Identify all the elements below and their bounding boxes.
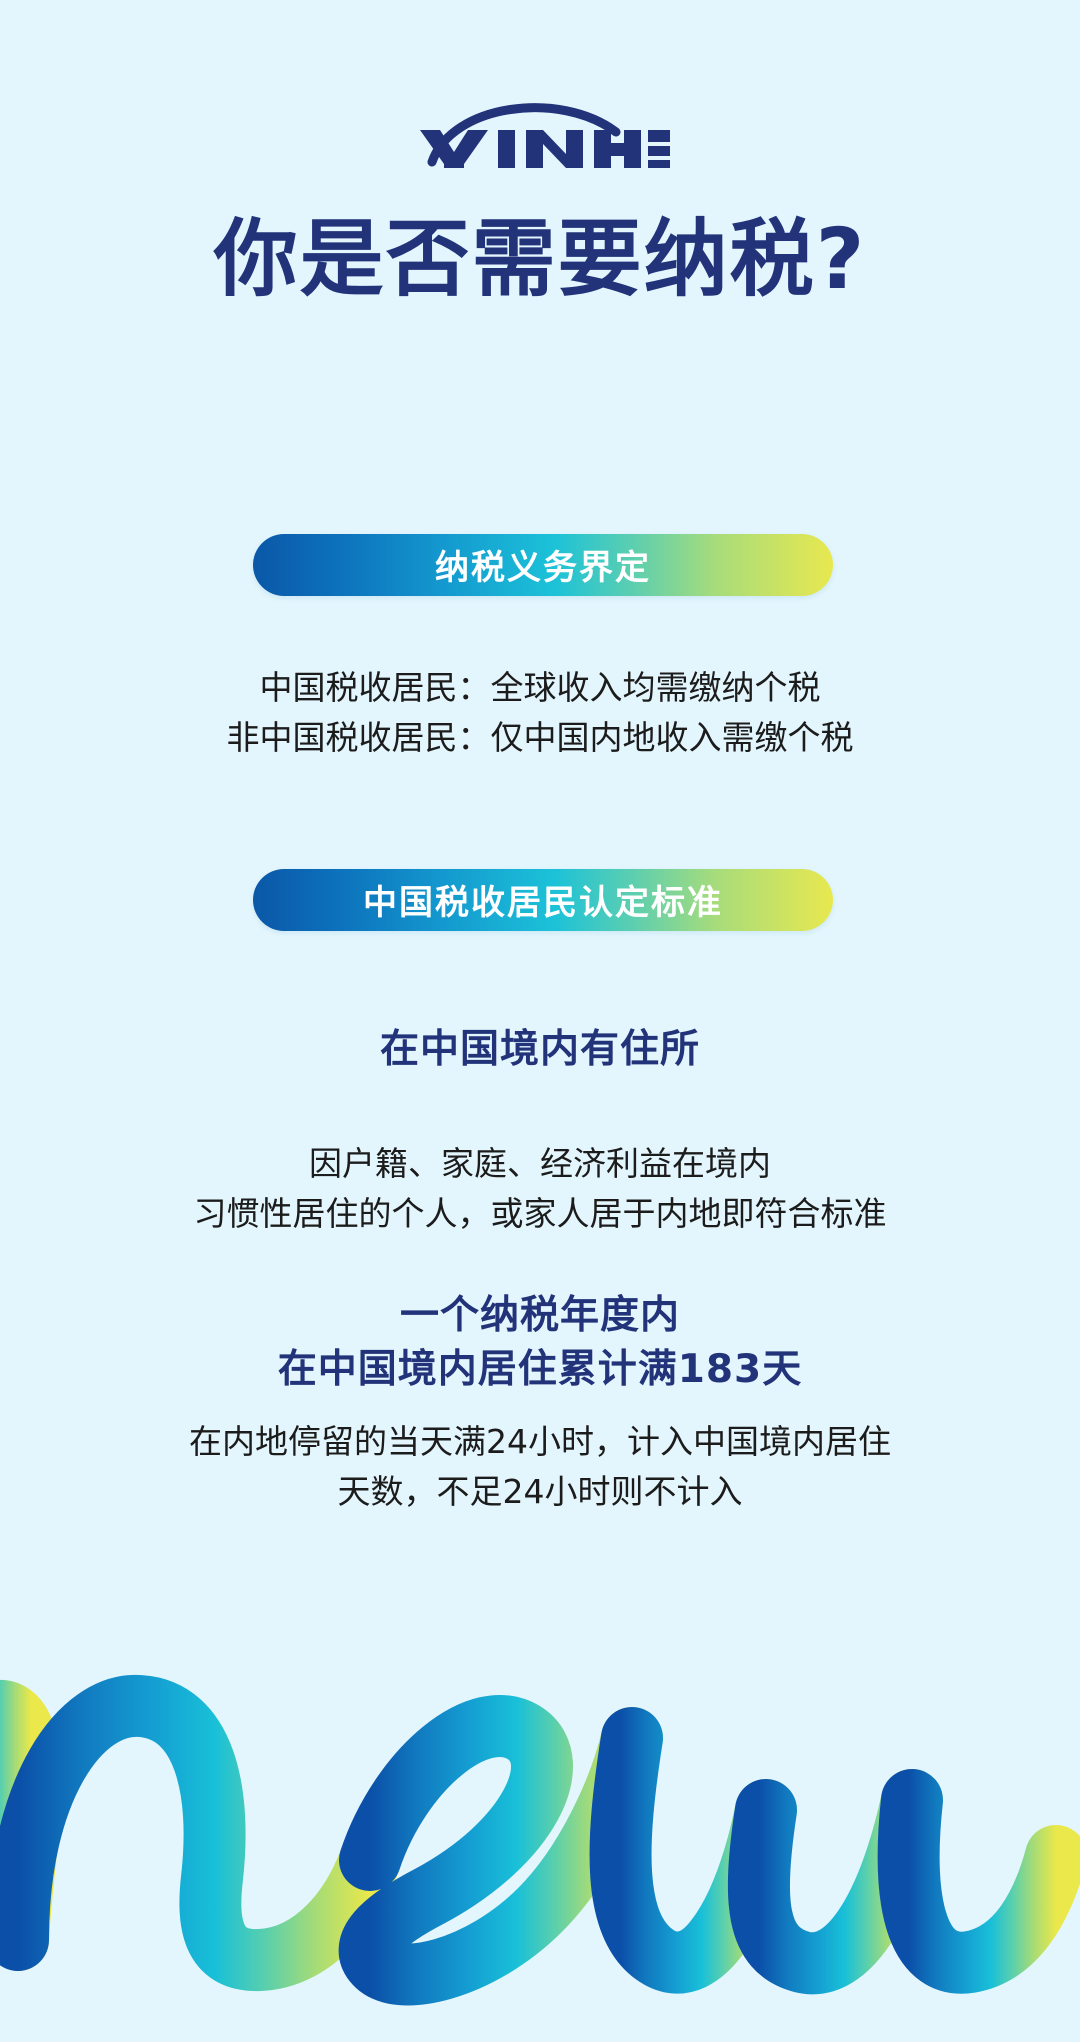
tax-obligation-line-2: 非中国税收居民：仅中国内地收入需缴个税 bbox=[0, 713, 1080, 763]
criterion-2-heading-line-1: 一个纳税年度内 bbox=[0, 1289, 1080, 1343]
poster-root: 你是否需要纳税? 纳税义务界定 中国税收居民：全球收入均需缴纳个税 非中国税收居… bbox=[0, 0, 1080, 2042]
badge-tax-obligation-label: 纳税义务界定 bbox=[435, 540, 651, 589]
logo-letter-e-bar-top bbox=[648, 130, 670, 142]
yinhe-logo-svg bbox=[410, 88, 670, 168]
badge-residency-criteria: 中国税收居民认定标准 bbox=[253, 869, 833, 931]
criterion-2-body: 在内地停留的当天满24小时，计入中国境内居住 天数，不足24小时则不计入 bbox=[0, 1417, 1080, 1517]
criterion-2-line-1: 在内地停留的当天满24小时，计入中国境内居住 bbox=[0, 1417, 1080, 1467]
criterion-2-heading: 一个纳税年度内 在中国境内居住累计满183天 bbox=[0, 1289, 1080, 1397]
new-script-decoration bbox=[0, 1610, 1080, 2042]
logo-letter-e-bar-bottom bbox=[648, 160, 670, 168]
logo-letter-n bbox=[526, 130, 583, 168]
criterion-2-heading-line-2: 在中国境内居住累计满183天 bbox=[0, 1343, 1080, 1397]
new-script-svg bbox=[0, 1610, 1080, 2042]
logo-letter-i bbox=[498, 130, 515, 168]
criterion-1-line-1: 因户籍、家庭、经济利益在境内 bbox=[0, 1139, 1080, 1189]
new-script-path bbox=[0, 1706, 1056, 1975]
tax-obligation-body: 中国税收居民：全球收入均需缴纳个税 非中国税收居民：仅中国内地收入需缴个税 bbox=[0, 663, 1080, 763]
page-title: 你是否需要纳税? bbox=[0, 212, 1080, 306]
logo-letter-e-bar-mid bbox=[648, 146, 670, 156]
criterion-1-heading: 在中国境内有住所 bbox=[0, 1023, 1080, 1077]
tax-obligation-line-1: 中国税收居民：全球收入均需缴纳个税 bbox=[0, 663, 1080, 713]
brand-logo bbox=[0, 88, 1080, 168]
criterion-1-line-2: 习惯性居住的个人，或家人居于内地即符合标准 bbox=[0, 1189, 1080, 1239]
criterion-1-body: 因户籍、家庭、经济利益在境内 习惯性居住的个人，或家人居于内地即符合标准 bbox=[0, 1139, 1080, 1239]
criterion-2-line-2: 天数，不足24小时则不计入 bbox=[0, 1467, 1080, 1517]
badge-residency-criteria-label: 中国税收居民认定标准 bbox=[363, 875, 723, 924]
badge-tax-obligation: 纳税义务界定 bbox=[253, 534, 833, 596]
